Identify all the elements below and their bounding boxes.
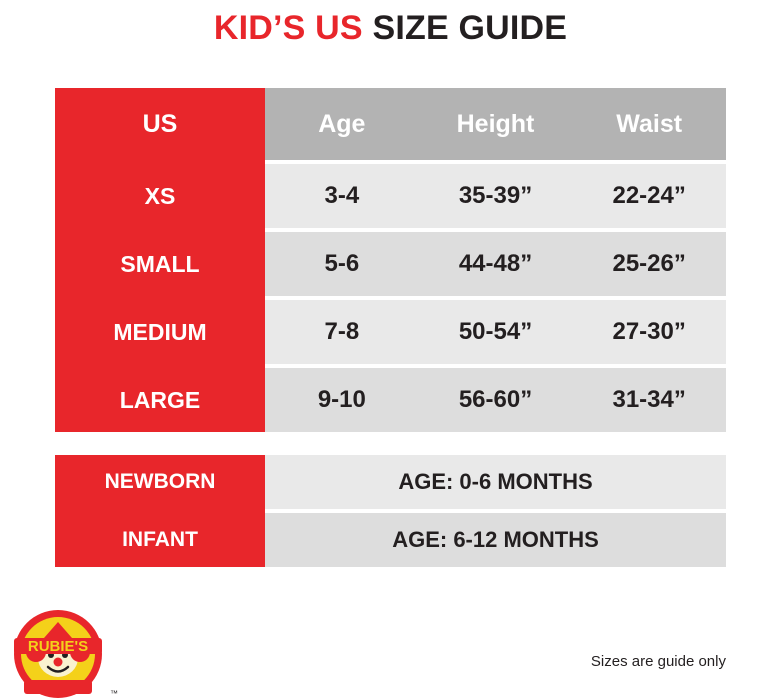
row-age-small: 5-6 xyxy=(265,232,419,296)
infant-size-table: NEWBORN AGE: 0-6 MONTHS INFANT AGE: 6-12… xyxy=(55,455,726,567)
row-height-large: 56-60” xyxy=(419,368,573,432)
row-waist-medium: 27-30” xyxy=(572,300,726,364)
table-row: XS 3-4 35-39” 22-24” xyxy=(55,164,726,228)
row-waist-xs: 22-24” xyxy=(572,164,726,228)
row-label-newborn: NEWBORN xyxy=(55,455,265,509)
logo-wordmark: RUBIE'S xyxy=(28,638,88,655)
footer-note: Sizes are guide only xyxy=(591,653,726,670)
main-size-table: US Age Height Waist XS 3-4 35-39” 22-24”… xyxy=(55,88,726,432)
row-age-xs: 3-4 xyxy=(265,164,419,228)
rubies-logo: RUBIE'S ™ xyxy=(8,608,123,700)
row-value-infant: AGE: 6-12 MONTHS xyxy=(265,513,726,567)
row-label-small: SMALL xyxy=(55,232,265,296)
header-cell-age: Age xyxy=(265,88,419,160)
table-header-row: US Age Height Waist xyxy=(55,88,726,160)
table-row: SMALL 5-6 44-48” 25-26” xyxy=(55,232,726,296)
header-cell-height: Height xyxy=(419,88,573,160)
header-cell-us: US xyxy=(55,88,265,160)
row-label-infant: INFANT xyxy=(55,513,265,567)
page-title-red: KID’S US xyxy=(214,9,363,47)
row-waist-small: 25-26” xyxy=(572,232,726,296)
row-label-large: LARGE xyxy=(55,368,265,432)
table-row: LARGE 9-10 56-60” 31-34” xyxy=(55,368,726,432)
row-label-xs: XS xyxy=(55,164,265,228)
row-value-newborn: AGE: 0-6 MONTHS xyxy=(265,455,726,509)
row-waist-large: 31-34” xyxy=(572,368,726,432)
table-row: MEDIUM 7-8 50-54” 27-30” xyxy=(55,300,726,364)
table-row: NEWBORN AGE: 0-6 MONTHS xyxy=(55,455,726,509)
row-height-small: 44-48” xyxy=(419,232,573,296)
table-row: INFANT AGE: 6-12 MONTHS xyxy=(55,513,726,567)
trademark-mark: ™ xyxy=(110,689,118,698)
row-age-large: 9-10 xyxy=(265,368,419,432)
header-cell-waist: Waist xyxy=(572,88,726,160)
page-title: KID’S US SIZE GUIDE xyxy=(0,0,781,47)
page-title-black: SIZE GUIDE xyxy=(372,9,567,47)
row-age-medium: 7-8 xyxy=(265,300,419,364)
size-guide-page: KID’S US SIZE GUIDE US Age Height Waist … xyxy=(0,0,781,700)
row-label-medium: MEDIUM xyxy=(55,300,265,364)
row-height-xs: 35-39” xyxy=(419,164,573,228)
row-height-medium: 50-54” xyxy=(419,300,573,364)
